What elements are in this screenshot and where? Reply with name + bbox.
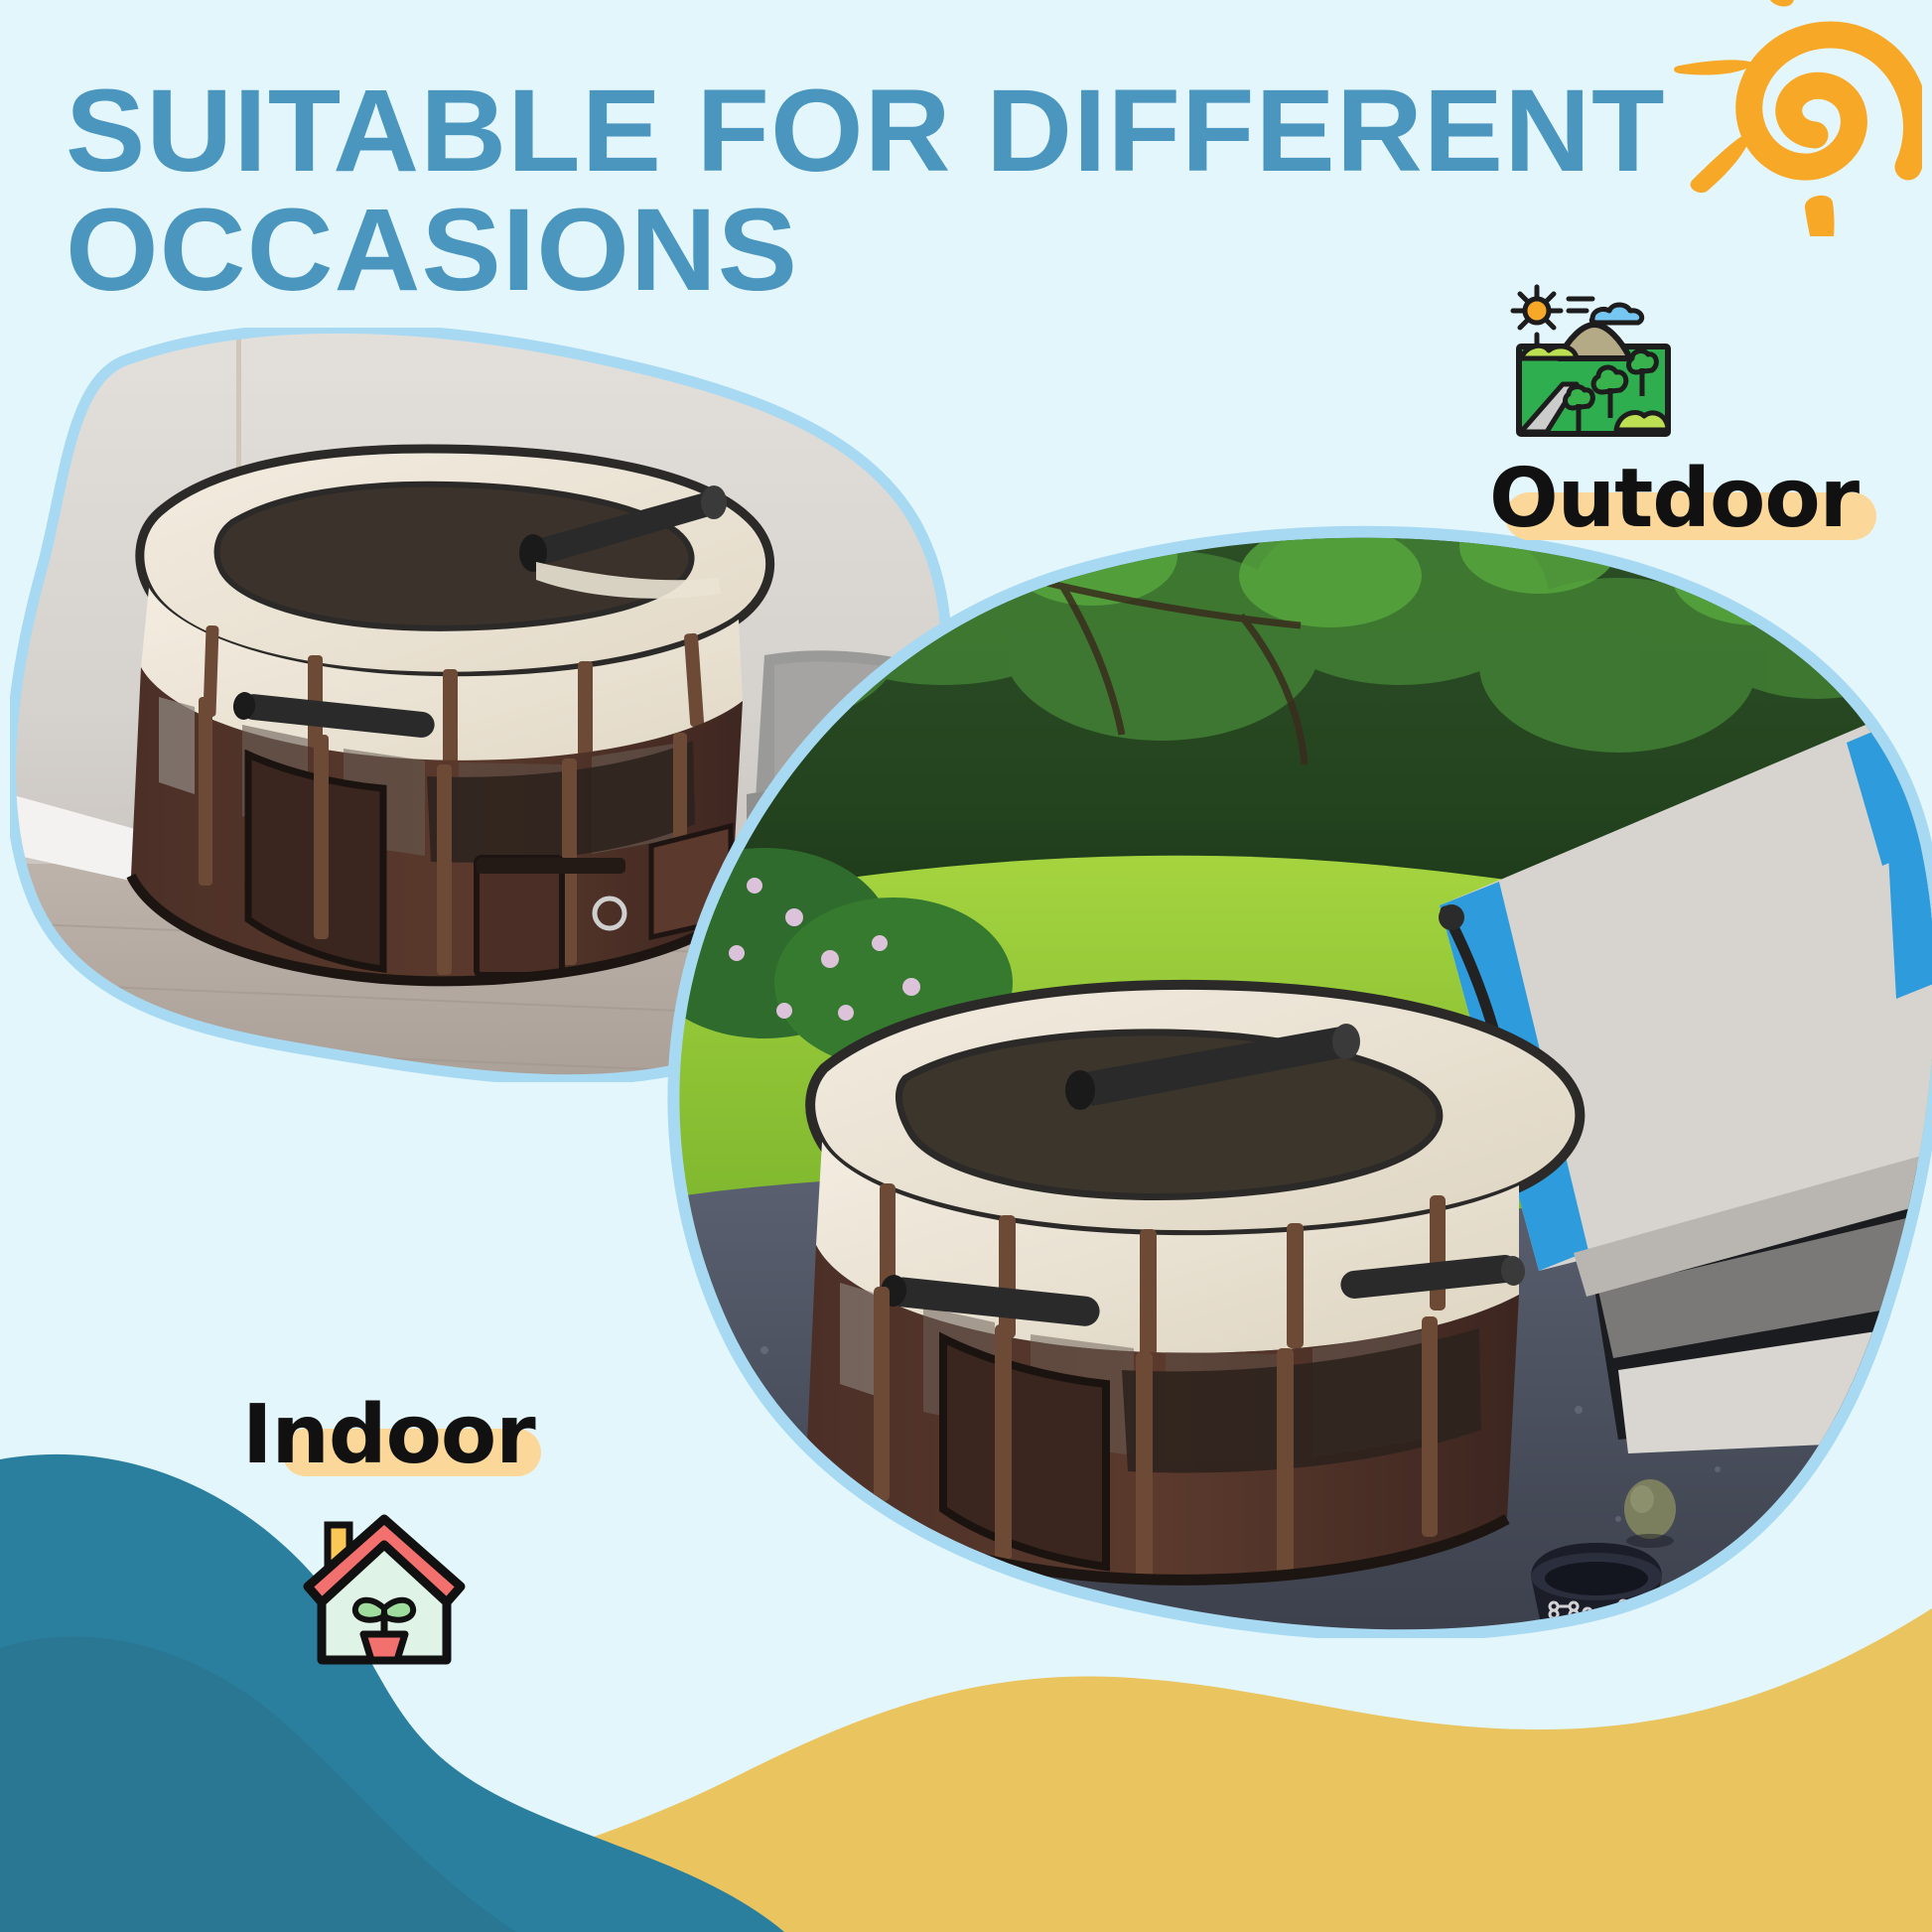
sun-spiral-icon bbox=[1585, 0, 1922, 236]
outdoor-playpen-photo bbox=[645, 516, 1932, 1638]
title-line-2: OCCASIONS bbox=[66, 191, 1382, 310]
outdoor-label-wrap: Outdoor bbox=[1489, 452, 1859, 546]
pet-playpen-outdoor bbox=[806, 985, 1580, 1580]
deco-teal-blob-dark bbox=[0, 1636, 516, 1932]
title-line-1: SUITABLE FOR DIFFERENT bbox=[66, 71, 1382, 191]
landscape-mountain-icon bbox=[1507, 281, 1696, 440]
indoor-label-wrap: Indoor bbox=[242, 1388, 535, 1482]
occasion-outdoor: Outdoor bbox=[1489, 452, 1859, 546]
infographic-canvas: SUITABLE FOR DIFFERENT OCCASIONS bbox=[0, 0, 1932, 1932]
indoor-label: Indoor bbox=[242, 1388, 535, 1482]
outdoor-label: Outdoor bbox=[1489, 452, 1859, 546]
olive-ball-toy bbox=[1624, 1479, 1676, 1548]
page-title: SUITABLE FOR DIFFERENT OCCASIONS bbox=[66, 71, 1356, 311]
house-plant-icon bbox=[292, 1505, 477, 1676]
occasion-indoor: Indoor bbox=[242, 1388, 535, 1482]
